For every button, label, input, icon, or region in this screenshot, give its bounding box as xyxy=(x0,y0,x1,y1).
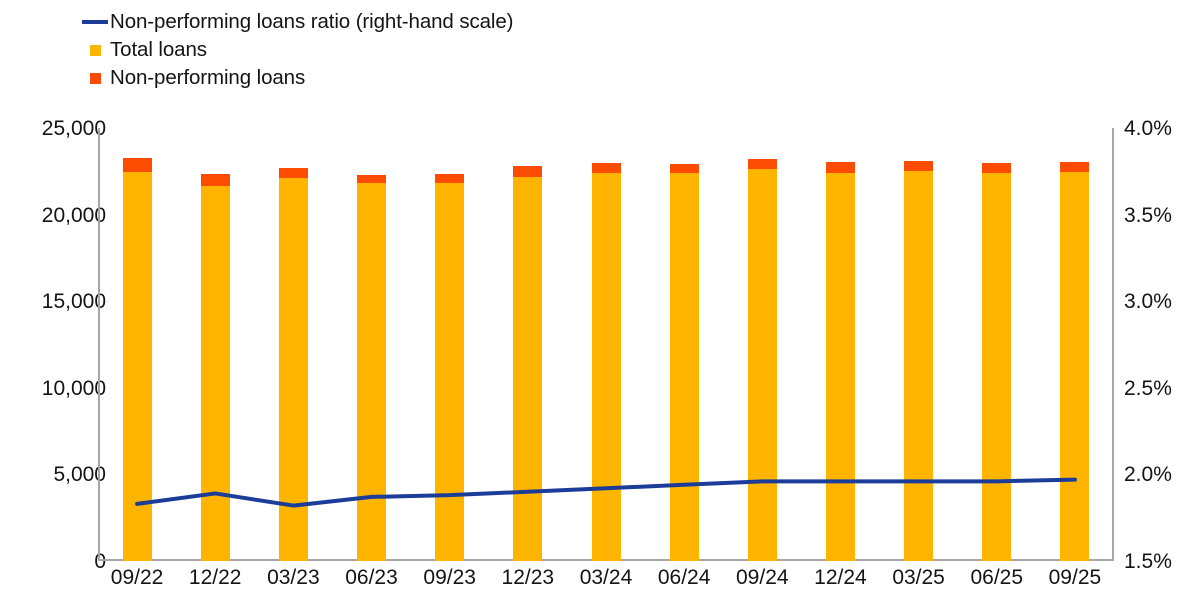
y-axis-left-tick: 20,000 xyxy=(42,205,106,226)
bar-group[interactable] xyxy=(670,164,699,561)
bar-segment-non-performing-loans[interactable] xyxy=(201,174,230,186)
y-axis-left-tick: 25,000 xyxy=(42,118,106,139)
bar-segment-total-loans[interactable] xyxy=(1060,172,1089,561)
legend-label-ratio: Non-performing loans ratio (right-hand s… xyxy=(110,8,513,36)
bar-group[interactable] xyxy=(592,163,621,561)
bar-group[interactable] xyxy=(279,168,308,561)
x-axis-tick: 03/23 xyxy=(254,566,332,590)
bar-group[interactable] xyxy=(513,166,542,561)
bar-group[interactable] xyxy=(982,163,1011,561)
bar-segment-total-loans[interactable] xyxy=(826,173,855,561)
bar-segment-non-performing-loans[interactable] xyxy=(513,166,542,177)
x-axis-tick: 06/25 xyxy=(958,566,1036,590)
bar-segment-total-loans[interactable] xyxy=(357,183,386,561)
bar-segment-non-performing-loans[interactable] xyxy=(357,175,386,183)
x-axis-tick: 03/25 xyxy=(880,566,958,590)
plot-area xyxy=(98,128,1114,561)
y-axis-right-tick: 2.0% xyxy=(1124,464,1172,485)
bar-segment-total-loans[interactable] xyxy=(748,169,777,561)
legend-item-total-loans[interactable]: Total loans xyxy=(80,36,780,64)
x-axis-tick: 03/24 xyxy=(567,566,645,590)
square-swatch-icon xyxy=(80,73,110,84)
y-axis-right-tick: 1.5% xyxy=(1124,551,1172,572)
y-axis-left-tick: 15,000 xyxy=(42,291,106,312)
bar-group[interactable] xyxy=(826,162,855,561)
x-axis-tick: 09/23 xyxy=(411,566,489,590)
bar-segment-non-performing-loans[interactable] xyxy=(748,159,777,169)
legend-label-total-loans: Total loans xyxy=(110,36,207,64)
left-axis-line xyxy=(98,128,100,561)
bar-segment-total-loans[interactable] xyxy=(201,186,230,561)
legend-item-ratio[interactable]: Non-performing loans ratio (right-hand s… xyxy=(80,8,780,36)
bar-segment-non-performing-loans[interactable] xyxy=(826,162,855,172)
chart-legend: Non-performing loans ratio (right-hand s… xyxy=(80,8,780,92)
bar-segment-non-performing-loans[interactable] xyxy=(670,164,699,173)
y-axis-right-tick: 4.0% xyxy=(1124,118,1172,139)
bar-segment-total-loans[interactable] xyxy=(123,172,152,561)
bar-segment-non-performing-loans[interactable] xyxy=(904,161,933,171)
bar-segment-non-performing-loans[interactable] xyxy=(279,168,308,178)
bar-group[interactable] xyxy=(123,158,152,561)
bar-segment-non-performing-loans[interactable] xyxy=(592,163,621,173)
bar-segment-non-performing-loans[interactable] xyxy=(123,158,152,172)
bar-segment-total-loans[interactable] xyxy=(982,173,1011,561)
chart-container: Non-performing loans ratio (right-hand s… xyxy=(0,0,1200,600)
y-axis-right-tick: 3.0% xyxy=(1124,291,1172,312)
bar-segment-total-loans[interactable] xyxy=(513,177,542,561)
bar-segment-total-loans[interactable] xyxy=(592,173,621,561)
bar-group[interactable] xyxy=(748,159,777,561)
bar-group[interactable] xyxy=(435,174,464,561)
line-marker-icon xyxy=(80,20,110,24)
right-axis-line xyxy=(1112,128,1114,561)
y-axis-right-tick: 3.5% xyxy=(1124,205,1172,226)
y-axis-right-tick: 2.5% xyxy=(1124,378,1172,399)
y-axis-left-tick: 10,000 xyxy=(42,378,106,399)
x-axis-tick: 12/23 xyxy=(489,566,567,590)
square-swatch-icon xyxy=(80,45,110,56)
x-axis-tick: 09/22 xyxy=(98,566,176,590)
bar-group[interactable] xyxy=(1060,162,1089,561)
bar-group[interactable] xyxy=(201,174,230,561)
x-axis-tick: 06/24 xyxy=(645,566,723,590)
bar-segment-total-loans[interactable] xyxy=(904,171,933,561)
bar-segment-non-performing-loans[interactable] xyxy=(982,163,1011,173)
bar-group[interactable] xyxy=(904,161,933,561)
bar-segment-total-loans[interactable] xyxy=(670,173,699,561)
bar-group[interactable] xyxy=(357,175,386,561)
bar-segment-total-loans[interactable] xyxy=(279,178,308,561)
bar-segment-total-loans[interactable] xyxy=(435,183,464,561)
legend-label-npl: Non-performing loans xyxy=(110,64,305,92)
x-axis-tick: 09/25 xyxy=(1036,566,1114,590)
x-axis-tick: 09/24 xyxy=(723,566,801,590)
x-axis-tick: 12/24 xyxy=(801,566,879,590)
legend-item-npl[interactable]: Non-performing loans xyxy=(80,64,780,92)
bar-segment-non-performing-loans[interactable] xyxy=(1060,162,1089,172)
x-axis-tick: 12/22 xyxy=(176,566,254,590)
x-axis-tick: 06/23 xyxy=(332,566,410,590)
bar-segment-non-performing-loans[interactable] xyxy=(435,174,464,183)
